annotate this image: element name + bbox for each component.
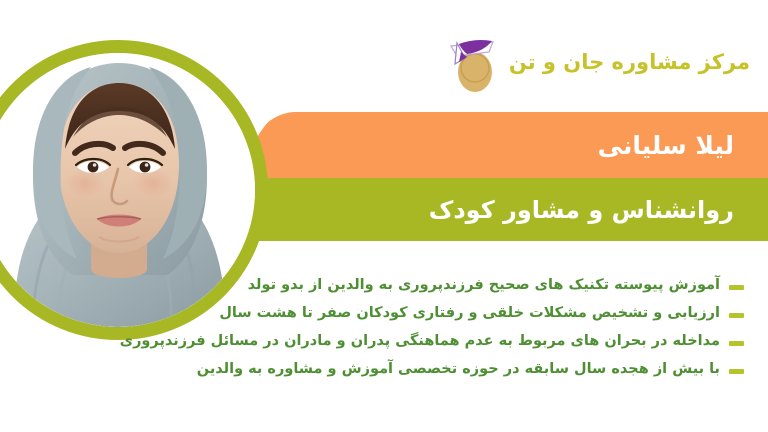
list-item-label: مداخله در بحران های مربوط به عدم هماهنگی… [120, 333, 720, 350]
header-title: مرکز مشاوره جان و تن [509, 51, 750, 74]
list-item-label: آموزش پیوسته تکنیک های صحیح فرزندپروری ب… [248, 277, 720, 294]
list-item: مداخله در بحران های مربوط به عدم هماهنگی… [22, 328, 744, 356]
list-item: آموزش پیوسته تکنیک های صحیح فرزندپروری ب… [22, 272, 744, 300]
person-name: لیلا سلیانی [598, 133, 734, 158]
profile-card: مرکز مشاوره جان و تن [0, 0, 768, 432]
role-banner: روانشناس و مشاور کودک [236, 178, 768, 241]
list-item: ارزیابی و تشخیص مشکلات خلقی و رفتاری کود… [22, 300, 744, 328]
list-item-label: با بیش از هجده سال سابقه در حوزه تخصصی آ… [197, 361, 720, 378]
header: مرکز مشاوره جان و تن [445, 32, 750, 94]
dash-bullet-icon [729, 369, 744, 374]
list-item: با بیش از هجده سال سابقه در حوزه تخصصی آ… [22, 356, 744, 384]
dash-bullet-icon [729, 285, 744, 290]
dash-bullet-icon [729, 313, 744, 318]
dash-bullet-icon [729, 341, 744, 346]
name-banner: لیلا سلیانی [236, 112, 768, 178]
credentials-list: آموزش پیوسته تکنیک های صحیح فرزندپروری ب… [22, 272, 744, 384]
list-item-label: ارزیابی و تشخیص مشکلات خلقی و رفتاری کود… [219, 305, 720, 322]
person-role: روانشناس و مشاور کودک [429, 198, 734, 222]
jan-o-tan-logo-icon [445, 32, 499, 94]
